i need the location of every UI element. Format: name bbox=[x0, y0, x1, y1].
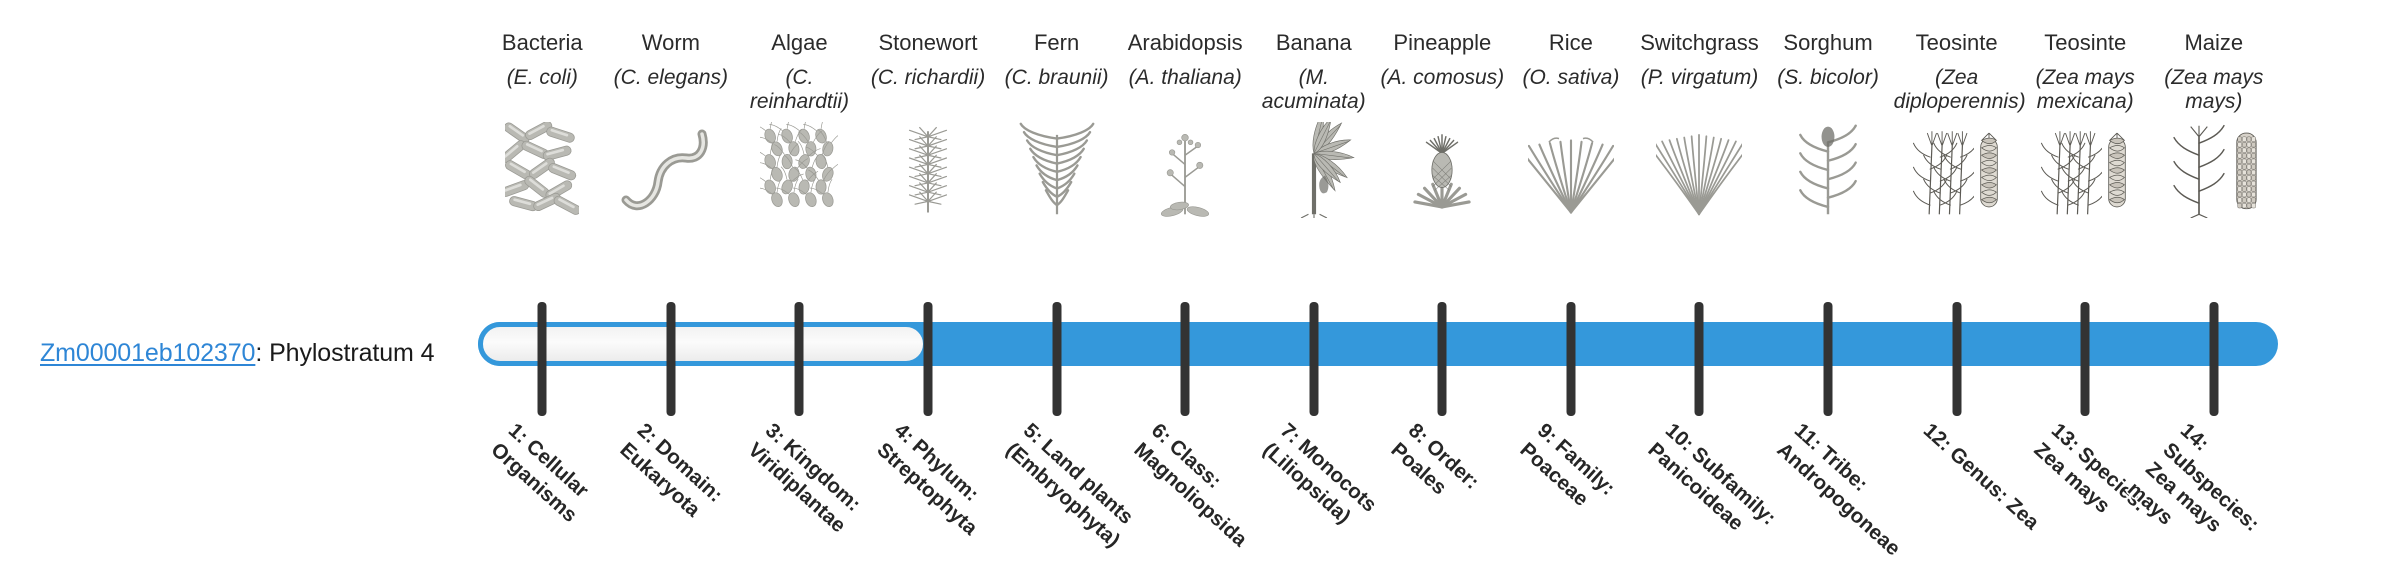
rank-number: 12: bbox=[1919, 419, 1956, 456]
teosinte-plant-and-ear-icon bbox=[2021, 122, 2149, 218]
phylostratum-rank-label: 8: Order: Poales bbox=[1385, 418, 1532, 557]
species-scientific-name: (E. coli) bbox=[507, 66, 578, 118]
species-scientific-name: (C. reinhardtii) bbox=[736, 66, 862, 118]
species-common-name: Teosinte bbox=[2044, 30, 2126, 58]
phylostratum-rank-label: 10: Subfamily: Panicoideae bbox=[1642, 418, 1789, 557]
phylostratum-rank-label: 7: Monocots (Liliopsida) bbox=[1257, 418, 1404, 557]
phylostratum-tick[interactable] bbox=[1952, 302, 1961, 416]
species-column: Maize(Zea mays mays) bbox=[2150, 30, 2279, 218]
phylostratum-tick[interactable] bbox=[795, 302, 804, 416]
fern-frond-icon bbox=[993, 122, 1121, 218]
species-column: Algae(C. reinhardtii) bbox=[735, 30, 864, 218]
phylostratum-rank-label-list: 1: Cellular Organisms2: Domain: Eukaryot… bbox=[478, 418, 2278, 580]
maize-plant-and-cob-icon bbox=[2150, 122, 2278, 218]
species-common-name: Switchgrass bbox=[1640, 30, 1759, 58]
species-common-name: Arabidopsis bbox=[1128, 30, 1243, 58]
phylostratigraphy-figure: Zm00001eb102370: Phylostratum 4 Bacteria… bbox=[0, 0, 2400, 580]
species-scientific-name: (Zea mays mays) bbox=[2151, 66, 2277, 118]
banana-tree-icon bbox=[1250, 122, 1378, 218]
bacteria-rods-icon bbox=[478, 122, 606, 218]
species-common-name: Stonewort bbox=[878, 30, 977, 58]
nematode-worm-icon bbox=[607, 122, 735, 218]
rank-text: Land plants (Embryophyta) bbox=[1001, 435, 1137, 552]
phylostratum-tick[interactable] bbox=[1181, 302, 1190, 416]
species-scientific-name: (M. acuminata) bbox=[1251, 66, 1377, 118]
phylostratum-tick[interactable] bbox=[1438, 302, 1447, 416]
teosinte-plant-and-ear-icon bbox=[1893, 122, 2021, 218]
rank-text: Tribe: Andropogoneae bbox=[1772, 438, 1904, 560]
rank-text: Subfamily: Panicoideae bbox=[1644, 438, 1781, 535]
species-scientific-name: (Zea diploperennis) bbox=[1894, 66, 2020, 118]
species-column: Rice(O. sativa) bbox=[1507, 30, 1636, 218]
phylostratum-tick[interactable] bbox=[1824, 302, 1833, 416]
phylostratum-rank-label: 6: Class: Magnoliopsida bbox=[1128, 418, 1275, 557]
phylostratum-tick[interactable] bbox=[666, 302, 675, 416]
phylostratum-tick[interactable] bbox=[924, 302, 933, 416]
phylostratum-tick[interactable] bbox=[1695, 302, 1704, 416]
species-column: Banana(M. acuminata) bbox=[1249, 30, 1378, 218]
phylostratum-rank-label: 11: Tribe: Andropogoneae bbox=[1771, 418, 1918, 557]
species-common-name: Rice bbox=[1549, 30, 1593, 58]
stonewort-icon bbox=[864, 122, 992, 218]
species-column: Switchgrass(P. virgatum) bbox=[1635, 30, 1764, 218]
phylostratum-rank-label: 5: Land plants (Embryophyta) bbox=[999, 418, 1146, 557]
species-column: Sorghum(S. bicolor) bbox=[1764, 30, 1893, 218]
species-common-name: Fern bbox=[1034, 30, 1079, 58]
phylostratum-value-text: Phylostratum 4 bbox=[269, 339, 434, 367]
rank-text: Monocots (Liliopsida) bbox=[1258, 435, 1381, 529]
species-scientific-name: (A. thaliana) bbox=[1129, 66, 1242, 118]
species-scientific-name: (O. sativa) bbox=[1522, 66, 1619, 118]
rank-text: Kingdom: Viridiplantae bbox=[744, 435, 866, 538]
phylostratum-rank-label: 2: Domain: Eukaryota bbox=[614, 418, 761, 557]
pineapple-plant-icon bbox=[1378, 122, 1506, 218]
species-common-name: Sorghum bbox=[1783, 30, 1872, 58]
rank-text: Family: Poaceae bbox=[1515, 435, 1619, 511]
switchgrass-plant-icon bbox=[1635, 122, 1763, 218]
species-common-name: Bacteria bbox=[502, 30, 583, 58]
phylostratum-tick[interactable] bbox=[1309, 302, 1318, 416]
species-column-list: Bacteria(E. coli) bbox=[478, 30, 2278, 300]
species-column: Arabidopsis(A. thaliana) bbox=[1121, 30, 1250, 218]
species-column: Worm(C. elegans) bbox=[607, 30, 736, 218]
rank-text: Class: Magnoliopsida bbox=[1130, 435, 1252, 552]
species-common-name: Maize bbox=[2184, 30, 2243, 58]
species-scientific-name: (A. comosus) bbox=[1380, 66, 1504, 118]
sorghum-plant-icon bbox=[1764, 122, 1892, 218]
green-algae-cells-icon bbox=[735, 122, 863, 218]
species-column: Teosinte(Zea mays mexicana) bbox=[2021, 30, 2150, 218]
phylostratum-rank-label: 12: Genus: Zea bbox=[1917, 418, 2046, 538]
gene-label-separator: : bbox=[255, 339, 269, 367]
rank-text: Cellular Organisms bbox=[487, 435, 594, 527]
species-common-name: Banana bbox=[1276, 30, 1352, 58]
species-column: Bacteria(E. coli) bbox=[478, 30, 607, 218]
phylostratum-tick[interactable] bbox=[1052, 302, 1061, 416]
species-scientific-name: (S. bicolor) bbox=[1777, 66, 1879, 118]
phylostratum-tick[interactable] bbox=[1566, 302, 1575, 416]
species-scientific-name: (Zea mays mexicana) bbox=[2022, 66, 2148, 118]
species-column: Stonewort(C. richardii) bbox=[864, 30, 993, 218]
phylostratum-tick[interactable] bbox=[2209, 302, 2218, 416]
phylostratum-rank-label: 1: Cellular Organisms bbox=[485, 418, 632, 557]
phylostratum-bar[interactable] bbox=[478, 322, 2278, 366]
species-common-name: Worm bbox=[642, 30, 700, 58]
arabidopsis-plant-icon bbox=[1121, 122, 1249, 218]
phylostratum-tick[interactable] bbox=[538, 302, 547, 416]
species-column: Pineapple(A. comosus) bbox=[1378, 30, 1507, 218]
phylostratum-rank-label: 3: Kingdom: Viridiplantae bbox=[742, 418, 889, 557]
rank-text: Domain: Eukaryota bbox=[615, 435, 727, 522]
species-common-name: Pineapple bbox=[1393, 30, 1491, 58]
species-column: Teosinte(Zea diploperennis) bbox=[1892, 30, 2021, 218]
gene-phylostratum-label: Zm00001eb102370: Phylostratum 4 bbox=[40, 339, 434, 368]
phylostratum-rank-label: 14: Subspecies: Zea mays mays bbox=[2121, 418, 2303, 580]
phylostratum-rank-label: 9: Family: Poaceae bbox=[1514, 418, 1661, 557]
rank-text: Phylum: Streptophyta bbox=[872, 435, 983, 540]
phylostratum-tick[interactable] bbox=[2081, 302, 2090, 416]
rice-plant-icon bbox=[1507, 122, 1635, 218]
species-column: Fern(C. braunii) bbox=[992, 30, 1121, 218]
species-common-name: Teosinte bbox=[1916, 30, 1998, 58]
species-scientific-name: (P. virgatum) bbox=[1641, 66, 1758, 118]
species-scientific-name: (C. richardii) bbox=[871, 66, 985, 118]
species-common-name: Algae bbox=[771, 30, 827, 58]
phylostratum-rank-label: 4: Phylum: Streptophyta bbox=[871, 418, 1018, 557]
species-scientific-name: (C. braunii) bbox=[1005, 66, 1109, 118]
gene-accession-link[interactable]: Zm00001eb102370 bbox=[40, 339, 255, 367]
species-scientific-name: (C. elegans) bbox=[614, 66, 728, 118]
rank-text: Order: Poales bbox=[1387, 435, 1484, 500]
